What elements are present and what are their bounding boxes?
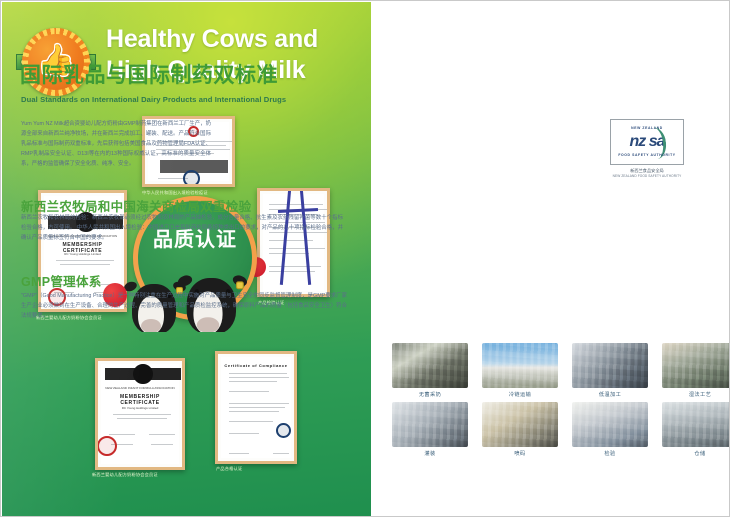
process-photo-grid: 无菌采奶 冷链运输 低温加工 湿法工艺 灌装 喷码 [392, 343, 722, 461]
photo-cell-lab: 检验 [572, 402, 648, 457]
certificate-b-holder: RC Young Holdings Limited [44, 252, 121, 256]
nzfsa-wordmark: nz sa [611, 120, 683, 164]
photo-cell-processing: 低温加工 [572, 343, 648, 398]
nzfsa-caption-en: NEW ZEALAND FOOD SAFETY AUTHORITY [597, 174, 697, 178]
photo-caption-3: 低温加工 [572, 391, 648, 398]
headline-line-1: Healthy Cows and [106, 24, 368, 55]
milking-parlour-photo [392, 343, 468, 388]
certificate-d-holder: RC Young Holdings Limited [101, 406, 179, 410]
certificate-d-org: NEW ZEALAND INFANT FORMULA ASSOCIATION [101, 386, 179, 390]
certificate-e-caption: 产品合格认证 [216, 466, 242, 472]
nzfsa-logo: NEW ZEALAND nz sa FOOD SAFETY AUTHORITY [610, 119, 684, 165]
certificate-e-inner: Certificate of Compliance [221, 357, 291, 458]
certificate-d-title: MEMBERSHIP CERTIFICATE [101, 394, 179, 406]
section-1-heading-cn: 国际乳品与国际制药双标准 [20, 59, 278, 89]
certificate-d-inner: NEW ZEALAND INFANT FORMULA ASSOCIATION M… [101, 364, 179, 464]
coding-machine-photo [482, 402, 558, 447]
section-1-body: Yum Yum NZ Milk超合资婴幼儿配方奶粉由GMP制药集团在新西兰工厂生… [21, 119, 211, 169]
photo-cell-wetprocess: 湿法工艺 [662, 343, 730, 398]
photo-cell-coding: 喷码 [482, 402, 558, 457]
photo-caption-4: 湿法工艺 [662, 391, 730, 398]
photo-caption-1: 无菌采奶 [392, 391, 468, 398]
photo-caption-5: 灌装 [392, 450, 468, 457]
photo-row-2: 灌装 喷码 检验 仓储 [392, 402, 722, 457]
certificate-d-caption: 新西兰婴幼儿配方奶粉协会会员证 [92, 472, 158, 478]
photo-row-1: 无菌采奶 冷链运输 低温加工 湿法工艺 [392, 343, 722, 398]
photo-cell-transport: 冷链运输 [482, 343, 558, 398]
wet-process-photo [662, 343, 730, 388]
section-3-body: "GMP"（Good Manufacturing Practice）是一种特别注… [21, 291, 347, 321]
warehouse-photo [662, 402, 730, 447]
photo-caption-6: 喷码 [482, 450, 558, 457]
photo-cell-milking: 无菌采奶 [392, 343, 468, 398]
nzfsa-arc-bottom: FOOD SAFETY AUTHORITY [611, 153, 683, 157]
photo-cell-warehouse: 仓储 [662, 402, 730, 457]
filling-line-photo [392, 402, 468, 447]
certificate-image-d: NEW ZEALAND INFANT FORMULA ASSOCIATION M… [95, 358, 185, 470]
certificate-image-e: Certificate of Compliance [215, 351, 297, 464]
section-2-body: 新西兰农牧和农林局的检验：新西兰农牧部必须经过农牧和农林局的产品抽检验，成分含量… [21, 213, 343, 243]
photo-caption-7: 检验 [572, 450, 648, 457]
section-3-heading: GMP管理体系 [21, 271, 102, 290]
tanker-truck-photo [482, 343, 558, 388]
section-1-heading-en: Dual Standards on International Dairy Pr… [21, 95, 286, 104]
certificate-e-title: Certificate of Compliance [221, 363, 291, 368]
laboratory-testing-photo [572, 402, 648, 447]
processing-plant-photo [572, 343, 648, 388]
photo-caption-8: 仓储 [662, 450, 730, 457]
photo-cell-filling: 灌装 [392, 402, 468, 457]
brochure-page: 👍 Healthy Cows and High Quality Milk 中华人… [0, 0, 730, 517]
photo-caption-2: 冷链运输 [482, 391, 558, 398]
